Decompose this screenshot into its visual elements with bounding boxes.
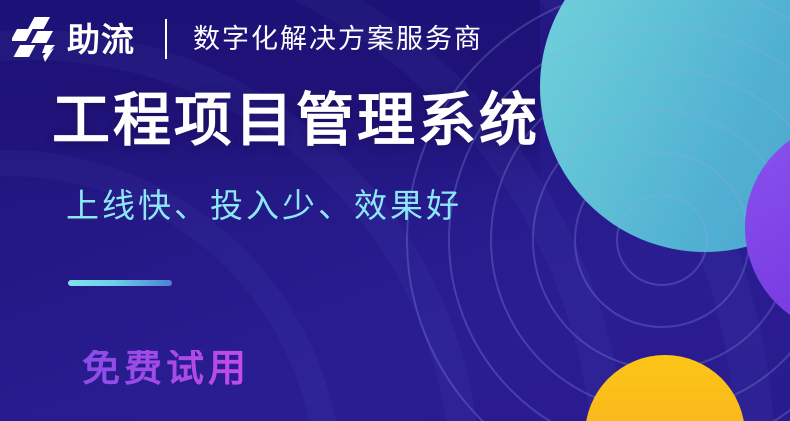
zhuliu-logo-mark [12,15,60,63]
brand-header: 助流 数字化解决方案服务商 [12,10,483,68]
header-divider [165,19,167,59]
page-title: 工程项目管理系统 [52,92,540,150]
accent-divider [68,280,172,286]
free-trial-cta[interactable]: 免费试用 [82,350,250,388]
marketing-banner: 助流 数字化解决方案服务商 工程项目管理系统 上线快、投入少、效果好 免费试用 [0,0,790,421]
page-subtitle: 上线快、投入少、效果好 [66,189,462,222]
brand-tagline: 数字化解决方案服务商 [193,26,483,53]
logo-wordmark: 助流 [67,23,135,56]
